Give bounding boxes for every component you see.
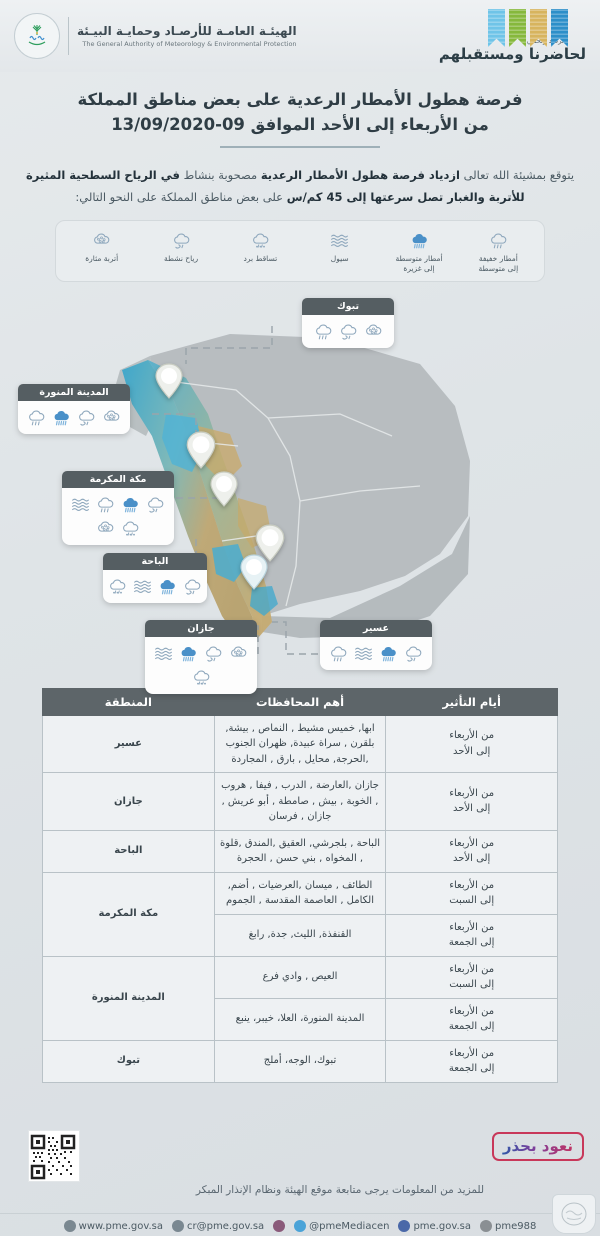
cloud-heavy-rain-icon: [51, 407, 72, 428]
days-line-2: إلى الجمعة: [449, 1063, 495, 1074]
weather-legend: أمطار خفيفةإلى متوسطةأمطار متوسطةإلى غزي…: [55, 220, 545, 281]
social-text-1: cr@pme.gov.sa: [187, 1221, 264, 1232]
callout-icons-makkah: [62, 488, 174, 545]
social-link-0[interactable]: www.pme.gov.sa: [64, 1220, 163, 1232]
cloud-wind-icon: [403, 643, 424, 664]
cell-days: من الأربعاءإلى الجمعة: [386, 1040, 558, 1082]
callout-title-tabuk: تبوك: [302, 298, 394, 315]
callout-title-albaha: الباحة: [103, 553, 207, 570]
callout-tabuk[interactable]: تبوك: [302, 298, 394, 348]
dust-cloud-icon: [101, 407, 122, 428]
callout-icons-jazan: [145, 637, 257, 694]
naoud-bihathar-logo: نعود بحذر: [492, 1132, 584, 1161]
map-pin-tabuk[interactable]: [155, 363, 183, 399]
qr-code-icon[interactable]: [28, 1130, 80, 1182]
cell-region: جازان: [43, 773, 215, 831]
cloud-wind-icon: [145, 494, 166, 515]
legend-item-5: أتربة مثارة: [63, 229, 141, 264]
flood-waves-icon: [329, 230, 350, 251]
flood-waves-icon: [153, 643, 174, 664]
table-row: من الأربعاءإلى الأحدابها, خميس مشيط , ال…: [43, 715, 558, 773]
cell-governorates: تبوك، الوجه، أملج: [214, 1040, 386, 1082]
cell-days: من الأربعاءإلى الأحد: [386, 715, 558, 773]
days-line-1: من الأربعاء: [449, 1048, 494, 1059]
legend-label-3: تساقط برد: [244, 254, 278, 264]
instagram-icon: [273, 1220, 285, 1232]
email-icon: [172, 1220, 184, 1232]
cell-days: من الأربعاءإلى السبت: [386, 956, 558, 998]
legend-item-2: سيول: [301, 229, 379, 264]
cell-governorates: جازان ,العارضة , الدرب , فيفا , هروب , ا…: [214, 773, 386, 831]
cloud-light-rain-icon: [26, 407, 47, 428]
snapchat-icon: [480, 1220, 492, 1232]
table-row: من الأربعاءإلى الجمعةتبوك، الوجه، أملجتب…: [43, 1040, 558, 1082]
cell-days: من الأربعاءإلى الجمعة: [386, 998, 558, 1040]
cell-days: من الأربعاءإلى السبت: [386, 872, 558, 914]
callout-icons-albaha: [103, 570, 207, 603]
cell-region: عسير: [43, 715, 215, 773]
callout-icons-tabuk: [302, 315, 394, 348]
cell-days: من الأربعاءإلى الأحد: [386, 773, 558, 831]
facebook-icon: [398, 1220, 410, 1232]
twitter-icon: [294, 1220, 306, 1232]
authority-name-en: The General Authority of Meteorology & E…: [77, 40, 297, 48]
flood-waves-icon: [353, 643, 374, 664]
days-line-2: إلى الأحد: [453, 746, 490, 757]
page-title: فرصة هطول الأمطار الرعدية على بعض مناطق …: [0, 72, 600, 154]
cloud-heavy-rain-icon: [409, 229, 430, 251]
intro-part-1: يتوقع بمشيئة الله تعالى: [464, 168, 574, 182]
social-text-5: pme988: [495, 1221, 536, 1232]
header-divider: [68, 17, 69, 55]
brand-main-text: لحاضرنا ومستقبلهم: [439, 45, 586, 63]
dust-cloud-icon: [95, 518, 116, 539]
legend-item-1: أمطار متوسطةإلى غزيرة: [380, 229, 458, 274]
title-divider: [220, 146, 380, 148]
footer-note: للمزيد من المعلومات يرجى متابعة موقع اله…: [0, 1184, 600, 1196]
days-line-2: إلى الجمعة: [449, 937, 495, 948]
cell-governorates: ابها, خميس مشيط , النماص , بيشة, بلقرن ,…: [214, 715, 386, 773]
title-line-2: من الأربعاء إلى الأحد الموافق 09-13/09/2…: [30, 113, 570, 138]
title-line-1: فرصة هطول الأمطار الرعدية على بعض مناطق …: [30, 88, 570, 113]
cell-governorates: الباحة , بلجرشي, العقيق ,المندق ,قلوة , …: [214, 830, 386, 872]
cell-region: مكة المكرمة: [43, 872, 215, 956]
callout-title-madinah: المدينة المنورة: [18, 384, 130, 401]
legend-item-0: أمطار خفيفةإلى متوسطة: [459, 229, 537, 274]
table-row: من الأربعاءإلى الأحدالباحة , بلجرشي, الع…: [43, 830, 558, 872]
legend-item-3: تساقط برد: [221, 229, 299, 264]
social-text-3: @pmeMediacen: [309, 1221, 389, 1232]
cloud-light-rain-icon: [488, 230, 509, 251]
cell-governorates: المدينة المنورة، العلا، خيبر، ينبع: [214, 998, 386, 1040]
flood-waves-icon: [329, 229, 350, 251]
map-pin-makkah[interactable]: [210, 471, 238, 507]
table-row: من الأربعاءإلى السبتالطائف , ميسان ,العر…: [43, 872, 558, 914]
cloud-wind-icon: [338, 321, 359, 342]
days-line-2: إلى الأحد: [453, 803, 490, 814]
legend-label-4: رياح نشطة: [164, 254, 198, 264]
social-text-4: pme.gov.sa: [413, 1221, 471, 1232]
legend-label-2: سيول: [331, 254, 349, 264]
cloud-light-rain-icon: [488, 229, 509, 251]
dust-cloud-icon: [91, 230, 112, 251]
days-line-1: من الأربعاء: [449, 880, 494, 891]
callout-icons-asir: [320, 637, 432, 670]
authority-name-ar: الهيئـة العامـة للأرصـاد وحمايـة البيـئة: [77, 24, 297, 38]
dust-cloud-icon: [363, 321, 384, 342]
intro-part-3: على بعض مناطق المملكة على النحو التالي:: [75, 190, 283, 204]
cloud-hail-icon: [120, 518, 141, 539]
official-seal-icon: [552, 1194, 596, 1234]
callout-albaha[interactable]: الباحة: [103, 553, 207, 603]
callout-title-jazan: جازان: [145, 620, 257, 637]
days-line-2: إلى الجمعة: [449, 1021, 495, 1032]
legend-label-1: أمطار متوسطةإلى غزيرة: [395, 254, 442, 274]
social-links-bar: www.pme.gov.sacr@pme.gov.sa@pmeMediacenp…: [0, 1213, 600, 1232]
dust-cloud-icon: [228, 643, 249, 664]
th-days: أيام التأثير: [386, 688, 558, 715]
callout-makkah[interactable]: مكة المكرمة: [62, 471, 174, 545]
table-body: من الأربعاءإلى الأحدابها, خميس مشيط , ال…: [43, 715, 558, 1082]
callout-title-makkah: مكة المكرمة: [62, 471, 174, 488]
days-line-1: من الأربعاء: [449, 788, 494, 799]
table-header-row: أيام التأثير أهم المحافظات المنطقة: [43, 688, 558, 715]
authority-branding: الهيئـة العامـة للأرصـاد وحمايـة البيـئة…: [14, 13, 297, 59]
intro-highlight-1: ازدياد فرصة هطول الأمطار الرعدية: [261, 168, 460, 182]
days-line-2: إلى السبت: [449, 895, 494, 906]
page-footer: نعود بحذر: [0, 1124, 600, 1236]
intro-paragraph: يتوقع بمشيئة الله تعالى ازدياد فرصة هطول…: [0, 154, 600, 215]
days-line-1: من الأربعاء: [449, 1006, 494, 1017]
cloud-light-rain-icon: [328, 643, 349, 664]
table-row: من الأربعاءإلى السبتالعيص , وادي فرعالمد…: [43, 956, 558, 998]
flood-waves-icon: [70, 494, 91, 515]
cell-region: المدينة المنورة: [43, 956, 215, 1040]
cloud-wind-icon: [76, 407, 97, 428]
legend-label-0: أمطار خفيفةإلى متوسطة: [479, 254, 519, 274]
days-line-1: من الأربعاء: [449, 922, 494, 933]
intro-part-2: مصحوبة بنشاط: [184, 168, 258, 182]
cloud-heavy-rain-icon: [120, 494, 141, 515]
brand-logo-left: نرصد ونحمي لحاضرنا ومستقبلهم: [439, 9, 586, 63]
legend-label-5: أتربة مثارة: [85, 254, 118, 264]
table-row: من الأربعاءإلى الأحدجازان ,العارضة , الد…: [43, 773, 558, 831]
days-line-2: إلى الأحد: [453, 853, 490, 864]
callout-jazan[interactable]: جازان: [145, 620, 257, 694]
cloud-wind-icon: [171, 230, 192, 251]
map-pin-madinah[interactable]: [186, 431, 216, 469]
flood-waves-icon: [132, 576, 153, 597]
page-header: نرصد ونحمي لحاضرنا ومستقبلهم الهيئـة الع…: [0, 0, 600, 72]
legend-item-4: رياح نشطة: [142, 229, 220, 264]
cell-region: الباحة: [43, 830, 215, 872]
days-line-2: إلى السبت: [449, 979, 494, 990]
globe-icon: [64, 1220, 76, 1232]
social-link-4[interactable]: pme.gov.sa: [398, 1220, 471, 1232]
social-link-3[interactable]: @pmeMediacen: [294, 1220, 389, 1232]
cloud-heavy-rain-icon: [157, 576, 178, 597]
cloud-wind-icon: [171, 229, 192, 251]
cell-governorates: العيص , وادي فرع: [214, 956, 386, 998]
callout-title-asir: عسير: [320, 620, 432, 637]
saudi-arabia-map: تبوك المدينة المنورة مكة المكرمة الباحة …: [0, 286, 600, 686]
cloud-hail-icon: [107, 576, 128, 597]
cell-region: تبوك: [43, 1040, 215, 1082]
regions-table-wrapper: أيام التأثير أهم المحافظات المنطقة من ال…: [42, 688, 558, 1083]
infographic-page: نرصد ونحمي لحاضرنا ومستقبلهم الهيئـة الع…: [0, 0, 600, 1236]
map-pin-albaha[interactable]: [240, 554, 268, 590]
social-link-2[interactable]: [273, 1220, 285, 1232]
days-line-1: من الأربعاء: [449, 730, 494, 741]
cell-days: من الأربعاءإلى الجمعة: [386, 914, 558, 956]
social-link-5[interactable]: pme988: [480, 1220, 536, 1232]
cloud-hail-icon: [250, 230, 271, 251]
cell-governorates: الطائف , ميسان ,العرضيات , أضم, الكامل ,…: [214, 872, 386, 914]
social-text-0: www.pme.gov.sa: [79, 1221, 163, 1232]
days-line-1: من الأربعاء: [449, 964, 494, 975]
dust-cloud-icon: [91, 229, 112, 251]
cloud-hail-icon: [250, 229, 271, 251]
cloud-light-rain-icon: [313, 321, 334, 342]
cell-governorates: القنفذة, الليث, جدة, رابغ: [214, 914, 386, 956]
callout-asir[interactable]: عسير: [320, 620, 432, 670]
cloud-wind-icon: [203, 643, 224, 664]
callout-madinah[interactable]: المدينة المنورة: [18, 384, 130, 434]
cloud-heavy-rain-icon: [378, 643, 399, 664]
saudi-emblem-icon: [14, 13, 60, 59]
days-line-1: من الأربعاء: [449, 838, 494, 849]
cloud-heavy-rain-icon: [409, 230, 430, 251]
social-link-1[interactable]: cr@pme.gov.sa: [172, 1220, 264, 1232]
cloud-light-rain-icon: [95, 494, 116, 515]
cloud-wind-icon: [182, 576, 203, 597]
regions-table: أيام التأثير أهم المحافظات المنطقة من ال…: [42, 688, 558, 1083]
cloud-hail-icon: [191, 667, 212, 688]
cell-days: من الأربعاءإلى الأحد: [386, 830, 558, 872]
cloud-heavy-rain-icon: [178, 643, 199, 664]
callout-icons-madinah: [18, 401, 130, 434]
